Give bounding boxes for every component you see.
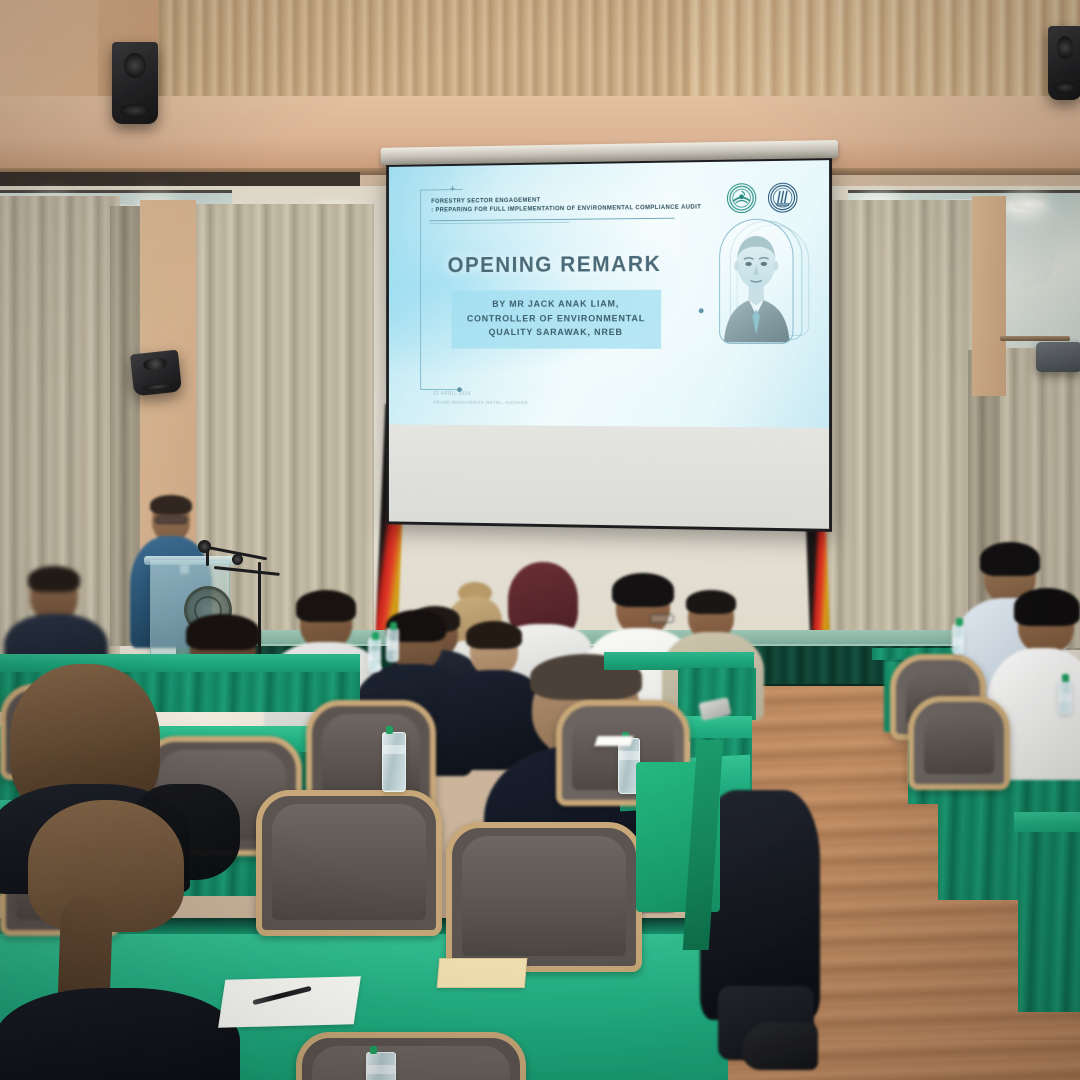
loudspeaker-icon (1048, 26, 1080, 100)
loudspeaker-icon (130, 350, 182, 397)
conference-hall-photo: + FORESTRY SECTOR ENGAGEMENT : PREPARING… (0, 0, 1080, 1080)
hair (466, 621, 522, 649)
slide-header-line2: : PREPARING FOR FULL IMPLEMENTATION OF E… (431, 203, 715, 215)
chair-seat (312, 1046, 510, 1080)
slide-header-rule (429, 218, 674, 222)
glasses-icon (155, 516, 187, 524)
downlight-icon (1012, 198, 1046, 211)
hair (980, 542, 1040, 576)
projection-screen[interactable]: + FORESTRY SECTOR ENGAGEMENT : PREPARING… (381, 140, 838, 532)
chair-seat (272, 804, 426, 920)
crosshair-icon: + (450, 184, 456, 195)
water-bottle[interactable] (1058, 680, 1072, 714)
note-paper[interactable] (218, 976, 361, 1028)
slide-footer: 22 APRIL 2024 GRAND MARGHERITA HOTEL, KU… (433, 390, 621, 407)
curtain-right (826, 200, 976, 648)
slide-footer-line2: GRAND MARGHERITA HOTEL, KUCHING (433, 398, 621, 407)
slide-header: FORESTRY SECTOR ENGAGEMENT : PREPARING F… (431, 194, 715, 216)
audience-member-ponytail-foreground (10, 800, 240, 1080)
screen-surface: + FORESTRY SECTOR ENGAGEMENT : PREPARING… (386, 158, 832, 532)
speaker-portrait (719, 218, 793, 344)
loudspeaker-icon (112, 42, 158, 124)
agency-logo-icon (768, 183, 797, 213)
hair (612, 573, 674, 607)
chair-foreground[interactable] (296, 1032, 526, 1080)
chair-frame (296, 1032, 526, 1080)
hair (1014, 588, 1080, 626)
subtitle-line-3: QUALITY SARAWAK, NREB (457, 325, 655, 339)
table-top-right-3 (1014, 812, 1080, 834)
podium-top-ledge (144, 556, 238, 565)
chair-front-center[interactable] (446, 822, 642, 972)
presentation-slide: + FORESTRY SECTOR ENGAGEMENT : PREPARING… (389, 160, 829, 428)
portrait-frame (719, 218, 793, 344)
shoe (742, 1022, 818, 1070)
microphone-icon (198, 540, 211, 553)
water-bottle[interactable] (952, 624, 964, 654)
speaker-hair (150, 495, 192, 515)
water-bottle[interactable] (382, 732, 406, 792)
projector-mount-arm (1000, 336, 1070, 341)
chair-front-left[interactable] (256, 790, 442, 936)
torso (0, 988, 240, 1080)
chair-frame (256, 790, 442, 936)
flag-right (806, 520, 830, 642)
table-skirt-right-3 (1018, 832, 1080, 1012)
water-bottle[interactable] (386, 628, 399, 662)
screen-unlit-area (389, 424, 829, 532)
chair-right-mid[interactable] (908, 696, 1010, 790)
shoe-foreground (742, 1022, 818, 1080)
slide-title: OPENING REMARK (433, 251, 676, 278)
hair (186, 614, 260, 650)
chair-frame (446, 822, 642, 972)
ceiling-projector-icon (1036, 342, 1080, 372)
subtitle-line-1: BY MR JACK ANAK LIAM, (457, 297, 655, 312)
note-paper-mid[interactable] (594, 736, 633, 746)
water-bottle[interactable] (368, 638, 381, 672)
slide-frame-line-top (420, 189, 463, 191)
slide-frame-line (420, 190, 421, 390)
slide-subtitle-box: BY MR JACK ANAK LIAM, CONTROLLER OF ENVI… (452, 290, 662, 349)
envelope[interactable] (437, 958, 528, 988)
hair (296, 590, 356, 622)
water-bottle-foreground[interactable] (366, 1052, 396, 1080)
slide-header-rule-2 (429, 222, 569, 224)
hair (28, 566, 80, 592)
dot-marker-icon (699, 308, 704, 313)
chair-seat (924, 710, 994, 774)
hair (686, 590, 736, 614)
chair-frame (908, 696, 1010, 790)
microphone-icon-2 (232, 554, 243, 565)
subtitle-line-2: CONTROLLER OF ENVIRONMENTAL (457, 311, 655, 326)
chair-seat (462, 836, 626, 956)
nreb-logo-icon (727, 183, 756, 213)
wall-pilaster-right (972, 196, 1006, 396)
